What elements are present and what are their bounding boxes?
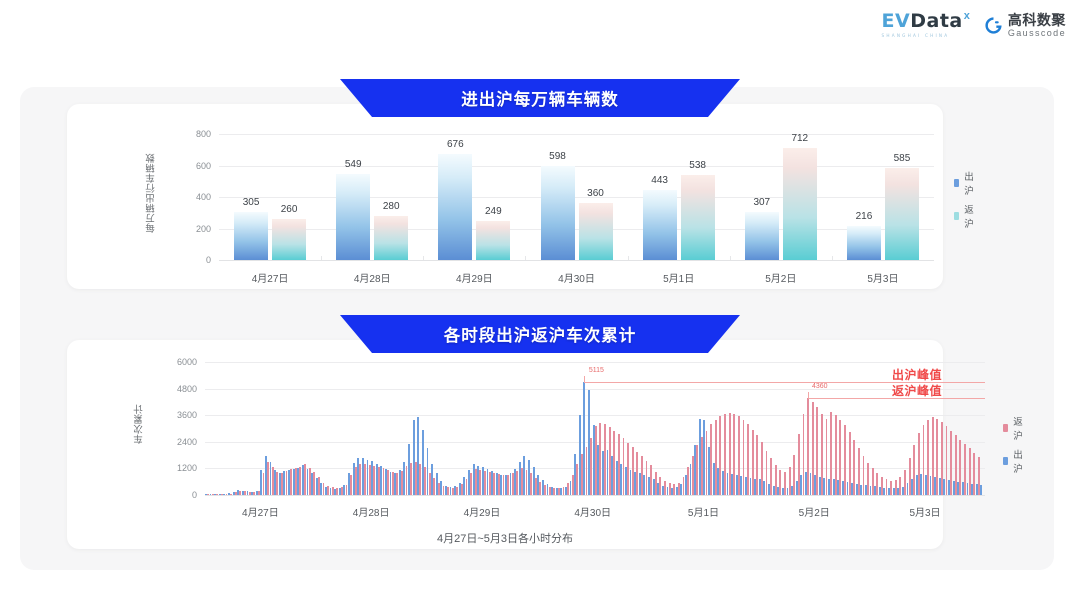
evdata-data-text: Data xyxy=(910,10,963,32)
chart2-y-tick-label: 2400 xyxy=(153,437,197,447)
chart1-group-separator xyxy=(730,256,731,260)
chart2-x-tick-label: 5月2日 xyxy=(799,504,830,519)
evdata-tagline: SHANGHAI CHINA xyxy=(882,33,950,38)
chart1-y-tick-label: 600 xyxy=(171,161,211,171)
chart1-bar-value: 216 xyxy=(856,211,873,222)
chart2-y-tick-label: 4800 xyxy=(153,384,197,394)
chart1-x-tick-label: 4月29日 xyxy=(456,270,493,285)
chart1-legend-label: 出沪 xyxy=(964,169,976,197)
chart1-group-separator xyxy=(832,256,833,260)
chart1-y-tick-label: 0 xyxy=(171,255,211,265)
chart1-gridline xyxy=(219,134,934,135)
chart1-gridline xyxy=(219,260,934,261)
gausscode-text: 高科数聚 Gausscode xyxy=(1008,13,1066,38)
evdata-wordmark: EVData x xyxy=(882,12,970,31)
chart2-gridline xyxy=(205,415,985,416)
chart1-bar-出沪-5月2日 xyxy=(745,212,779,260)
chart1-bar-value: 598 xyxy=(549,151,566,162)
chart1-gridline xyxy=(219,229,934,230)
chart1-bar-value: 712 xyxy=(791,133,808,144)
chart1-bar-value: 585 xyxy=(894,153,911,164)
chart2-x-tick-label: 4月28日 xyxy=(353,504,390,519)
chart1-bar-value: 249 xyxy=(485,206,502,217)
chart2-subtitle: 4月27日~5月3日各小时分布 xyxy=(67,530,943,546)
chart1-bar-出沪-4月29日 xyxy=(438,154,472,260)
chart1-bar-返沪-5月2日 xyxy=(783,148,817,260)
chart1-y-axis-label: 每万辆出行车辆数 xyxy=(145,130,159,256)
gausscode-en-name: Gausscode xyxy=(1008,29,1066,38)
chart1-bar-出沪-4月27日 xyxy=(234,212,268,260)
chart2-y-tick-label: 3600 xyxy=(153,410,197,420)
chart1-y-tick-label: 800 xyxy=(171,129,211,139)
chart2-x-tick-label: 4月30日 xyxy=(574,504,611,519)
chart2-peak-value-出沪峰值: 5115 xyxy=(589,367,604,374)
chart1-bar-value: 305 xyxy=(243,197,260,208)
chart1-bar-出沪-4月28日 xyxy=(336,174,370,260)
chart2-legend-item-出沪[interactable]: 出沪 xyxy=(1003,447,1026,475)
chart1-group-separator xyxy=(321,256,322,260)
slide-root: EVData x SHANGHAI CHINA 高科数聚 Gausscode 每… xyxy=(0,0,1080,608)
chart1-bar-返沪-4月28日 xyxy=(374,216,408,260)
chart1-y-tick-label: 200 xyxy=(171,224,211,234)
chart1-bar-value: 538 xyxy=(689,160,706,171)
chart2-y-tick-label: 0 xyxy=(153,490,197,500)
chart-hourly-trips: 车次累计0120024003600480060004月27日4月28日4月29日… xyxy=(67,340,943,549)
chart2-legend-swatch xyxy=(1003,424,1008,432)
chart1-bar-出沪-5月3日 xyxy=(847,226,881,260)
chart1-bar-出沪-4月30日 xyxy=(541,166,575,260)
chart1-bar-返沪-5月3日 xyxy=(885,168,919,260)
chart2-legend-swatch xyxy=(1003,457,1008,465)
chart1-group-separator xyxy=(423,256,424,260)
chart2-gridline xyxy=(205,362,985,363)
logo-bar: EVData x SHANGHAI CHINA 高科数聚 Gausscode xyxy=(882,12,1066,38)
chart2-peak-tick-返沪峰值 xyxy=(808,392,809,398)
chart2-peak-label-出沪峰值: 出沪峰值 xyxy=(892,366,942,383)
evdata-x-mark: x xyxy=(964,10,970,22)
chart1-gridline xyxy=(219,166,934,167)
chart1-bar-返沪-4月27日 xyxy=(272,219,306,260)
chart1-group-separator xyxy=(628,256,629,260)
chart1-legend-swatch xyxy=(954,212,959,220)
chart1-gridline xyxy=(219,197,934,198)
evdata-logo: EVData x SHANGHAI CHINA xyxy=(882,12,970,38)
chart1-bar-value: 360 xyxy=(587,188,604,199)
chart2-legend-item-返沪[interactable]: 返沪 xyxy=(1003,414,1026,442)
chart1-legend-label: 返沪 xyxy=(964,202,976,230)
banner-bottom: 各时段出沪返沪车次累计 xyxy=(340,315,740,353)
chart2-peak-label-返沪峰值: 返沪峰值 xyxy=(892,382,942,399)
chart2-gridline xyxy=(205,495,985,496)
banner-top-title: 进出沪每万辆车辆数 xyxy=(461,86,619,110)
chart1-x-tick-label: 5月1日 xyxy=(663,270,694,285)
banner-top: 进出沪每万辆车辆数 xyxy=(340,79,740,117)
banner-bottom-title: 各时段出沪返沪车次累计 xyxy=(444,322,637,346)
evdata-ev-text: EV xyxy=(882,10,911,32)
gausscode-g-icon xyxy=(984,16,1003,35)
chart1-bar-返沪-5月1日 xyxy=(681,175,715,260)
chart1-legend-swatch xyxy=(954,179,959,187)
chart2-x-tick-label: 4月29日 xyxy=(464,504,501,519)
chart1-bar-返沪-4月29日 xyxy=(476,221,510,260)
gausscode-cn-name: 高科数聚 xyxy=(1008,13,1066,27)
chart1-bar-value: 260 xyxy=(281,204,298,215)
chart2-legend: 返沪出沪 xyxy=(1003,414,1026,475)
chart1-x-tick-label: 4月27日 xyxy=(252,270,289,285)
chart1-x-tick-label: 4月28日 xyxy=(354,270,391,285)
chart1-y-tick-label: 400 xyxy=(171,192,211,202)
chart-vehicles-per-10k: 每万辆出行车辆数02004006008003052604月27日5492804月… xyxy=(67,104,943,289)
chart2-x-tick-label: 5月1日 xyxy=(688,504,719,519)
chart1-bar-出沪-5月1日 xyxy=(643,190,677,260)
chart1-bar-value: 549 xyxy=(345,159,362,170)
chart2-x-tick-label: 5月3日 xyxy=(909,504,940,519)
gausscode-logo: 高科数聚 Gausscode xyxy=(984,13,1066,38)
chart2-gridline xyxy=(205,389,985,390)
chart1-bar-value: 676 xyxy=(447,139,464,150)
chart1-bar-value: 307 xyxy=(753,197,770,208)
chart2-y-tick-label: 1200 xyxy=(153,463,197,473)
chart1-group-separator xyxy=(525,256,526,260)
chart1-bar-返沪-4月30日 xyxy=(579,203,613,260)
chart2-peak-tick-出沪峰值 xyxy=(584,376,585,382)
chart1-x-tick-label: 5月2日 xyxy=(765,270,796,285)
chart2-legend-label: 出沪 xyxy=(1013,447,1025,475)
chart2-legend-label: 返沪 xyxy=(1013,414,1025,442)
chart2-bar-out xyxy=(980,485,982,495)
evdata-word: EVData xyxy=(882,12,963,31)
chart2-peak-value-返沪峰值: 4360 xyxy=(812,383,828,390)
chart1-x-tick-label: 4月30日 xyxy=(558,270,595,285)
chart1-legend: 出沪返沪 xyxy=(954,169,977,230)
chart1-x-tick-label: 5月3日 xyxy=(867,270,898,285)
chart1-legend-item-返沪[interactable]: 返沪 xyxy=(954,202,977,230)
chart2-y-axis-label: 车次累计 xyxy=(133,358,147,491)
chart2-y-tick-label: 6000 xyxy=(153,357,197,367)
chart1-bar-value: 443 xyxy=(651,175,668,186)
chart1-bar-value: 280 xyxy=(383,201,400,212)
chart2-x-tick-label: 4月27日 xyxy=(242,504,279,519)
chart1-legend-item-出沪[interactable]: 出沪 xyxy=(954,169,977,197)
